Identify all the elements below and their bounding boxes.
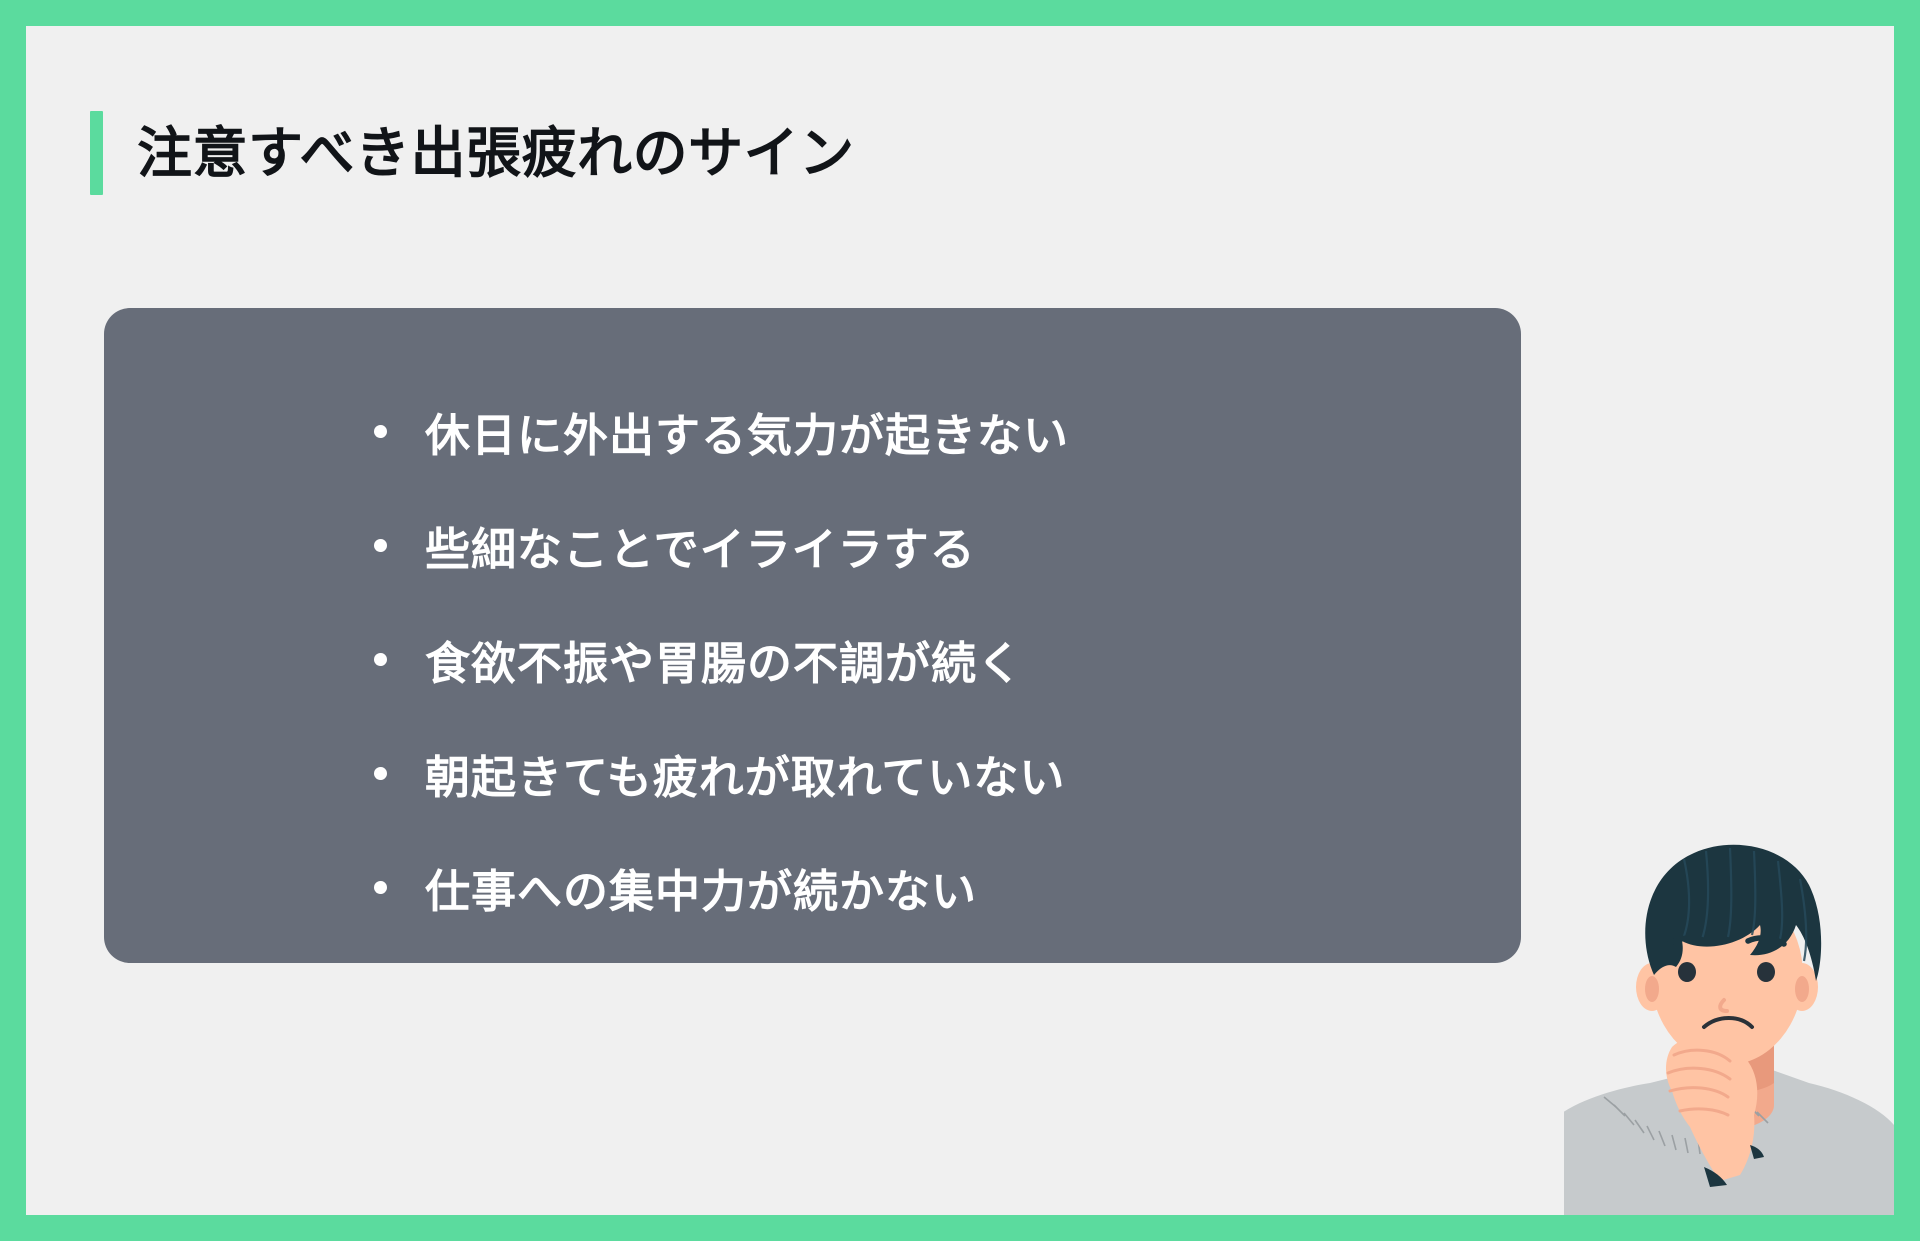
bullet-dot-icon [374, 539, 387, 552]
list-item-label: 仕事への集中力が続かない [425, 855, 977, 920]
slide-canvas: 注意すべき出張疲れのサイン 休日に外出する気力が起きない 些細なことでイライラす… [26, 26, 1894, 1215]
list-item: 仕事への集中力が続かない [374, 830, 1069, 944]
list-item: 食欲不振や胃腸の不調が続く [374, 602, 1069, 716]
list-item-label: 食欲不振や胃腸の不調が続く [425, 627, 1023, 692]
page-title: 注意すべき出張疲れのサイン [90, 111, 855, 195]
bullet-dot-icon [374, 767, 387, 780]
signs-card: 休日に外出する気力が起きない 些細なことでイライラする 食欲不振や胃腸の不調が続… [104, 308, 1521, 963]
list-item-label: 休日に外出する気力が起きない [425, 399, 1069, 464]
thinking-man-illustration [1564, 815, 1894, 1215]
title-accent-bar [90, 111, 103, 195]
title-text: 注意すべき出張疲れのサイン [137, 126, 855, 181]
slide-root: 注意すべき出張疲れのサイン 休日に外出する気力が起きない 些細なことでイライラす… [0, 0, 1920, 1241]
list-item-label: 朝起きても疲れが取れていない [425, 741, 1065, 806]
bullet-dot-icon [374, 881, 387, 894]
bullet-dot-icon [374, 653, 387, 666]
bullet-dot-icon [374, 425, 387, 438]
signs-list: 休日に外出する気力が起きない 些細なことでイライラする 食欲不振や胃腸の不調が続… [374, 374, 1069, 944]
list-item: 些細なことでイライラする [374, 488, 1069, 602]
list-item: 休日に外出する気力が起きない [374, 374, 1069, 488]
list-item: 朝起きても疲れが取れていない [374, 716, 1069, 830]
list-item-label: 些細なことでイライラする [425, 513, 976, 578]
